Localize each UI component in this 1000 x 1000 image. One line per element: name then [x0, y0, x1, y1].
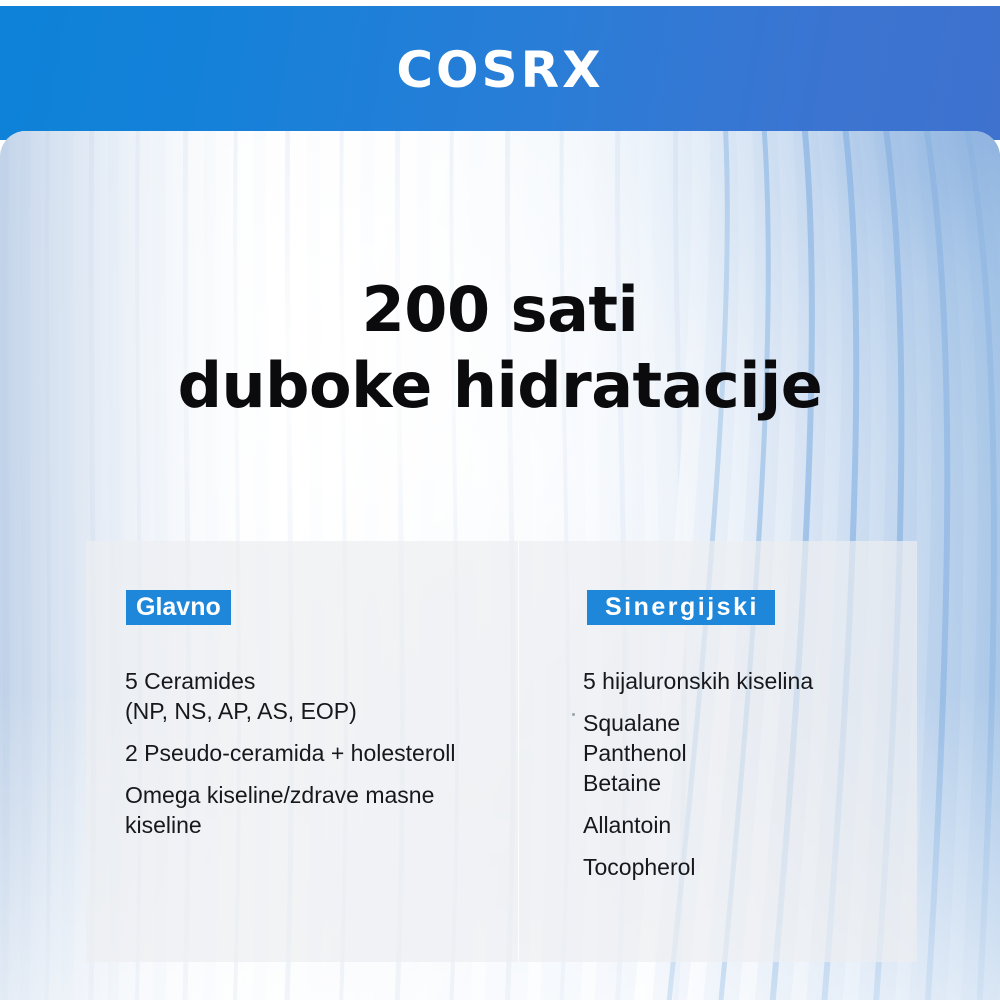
list-item: Squalane — [583, 708, 913, 738]
ingredient-panels: Glavno 5 Ceramides (NP, NS, AP, AS, EOP)… — [86, 541, 917, 962]
list-item: Omega kiseline/zdrave masne kiseline — [125, 780, 515, 840]
list-item: 2 Pseudo-ceramida + holesteroll — [125, 738, 515, 768]
sinergijski-badge: Sinergijski — [587, 590, 775, 625]
list-item: Panthenol — [583, 738, 913, 768]
list-item: Tocopherol — [583, 852, 913, 882]
list-item: Betaine — [583, 768, 913, 798]
sinergijski-ingredient-list: 5 hijaluronskih kiselina Squalane Panthe… — [583, 666, 913, 882]
glavno-badge: Glavno — [126, 590, 231, 625]
panel-glavno: Glavno 5 Ceramides (NP, NS, AP, AS, EOP)… — [86, 541, 518, 962]
glavno-badge-wrap: Glavno — [126, 590, 231, 625]
list-item: 5 Ceramides (NP, NS, AP, AS, EOP) — [125, 666, 515, 726]
list-item: Allantoin — [583, 810, 913, 840]
page-title: 200 sati duboke hidratacije — [0, 272, 1000, 424]
sinergijski-badge-wrap: Sinergijski — [587, 590, 775, 625]
list-item: 5 hijaluronskih kiselina — [583, 666, 913, 696]
headline-line-1: 200 sati — [362, 273, 639, 346]
panel-sinergijski: Sinergijski 5 hijaluronskih kiselina Squ… — [518, 541, 917, 962]
glavno-ingredient-list: 5 Ceramides (NP, NS, AP, AS, EOP) 2 Pseu… — [125, 666, 515, 840]
promo-canvas: COSRX — [0, 0, 1000, 1000]
headline-line-2: duboke hidratacije — [0, 348, 1000, 424]
cosrx-logo: COSRX — [0, 44, 1000, 96]
bullet-dot-icon — [572, 713, 575, 716]
